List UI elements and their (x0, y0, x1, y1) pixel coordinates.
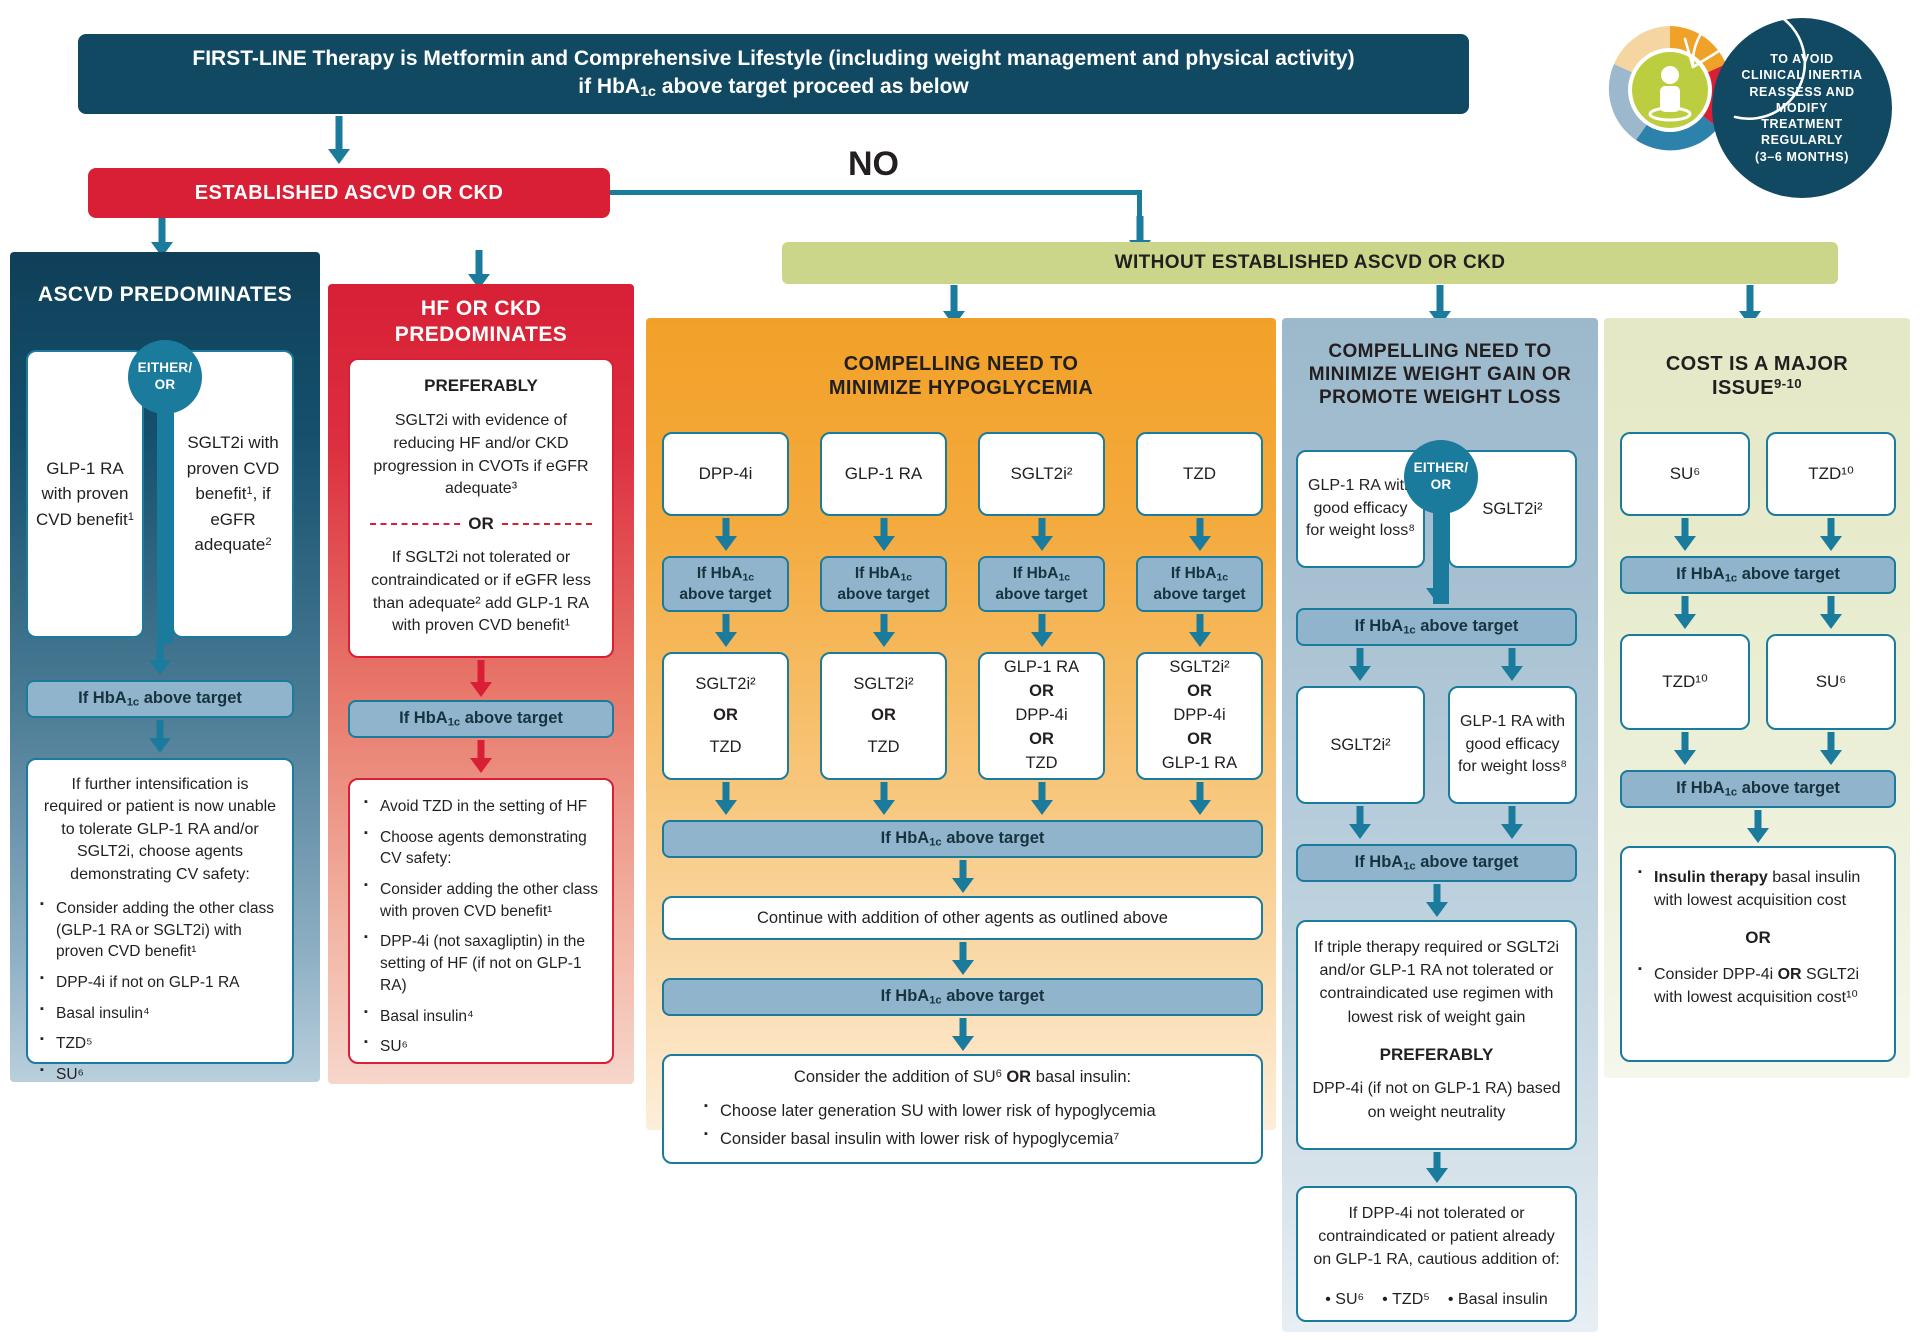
list-item: • TZD⁵ (1382, 1288, 1430, 1311)
list-item: DPP-4i (not saxagliptin) in the setting … (364, 931, 598, 996)
hfckd-column-title: HF OR CKD PREDOMINATES (328, 296, 634, 347)
cost-option-su: SU⁶ (1620, 432, 1750, 516)
hfckd-or-label: OR (468, 512, 494, 536)
weight-preferably-label: PREFERABLY (1380, 1043, 1494, 1068)
either-or-line1: EITHER/ (138, 360, 193, 377)
hypo-opt3-c: TZD (1025, 752, 1057, 776)
arrow-cost-su-down (1673, 518, 1697, 552)
hypo-opt3-b: DPP-4i (1015, 704, 1067, 728)
arrow-hypo-opt1-to-bar (714, 782, 738, 816)
hypo-next-options-2: SGLT2i² OR TZD (820, 652, 947, 780)
weight-either-or-badge: EITHER/ OR (1404, 440, 1478, 514)
weight-triple-text: If triple therapy required or SGLT2i and… (1312, 936, 1561, 1029)
hypo-option-dpp4i: DPP-4i (662, 432, 789, 516)
arrow-hfckd-pref-to-hba1c (469, 660, 493, 698)
list-item: Consider basal insulin with lower risk o… (704, 1128, 1241, 1152)
arrow-cost-su2-to-bar2 (1819, 732, 1843, 766)
hypo-consider-box: Consider the addition of SU6 OR basal in… (662, 1054, 1263, 1164)
cost-bullets-2: Consider DPP-4i OR SGLT2i with lowest ac… (1638, 963, 1878, 1009)
list-item: Insulin therapy basal insulin with lowes… (1638, 866, 1878, 912)
ascvd-hba1c-bar: If HbA1c above target (26, 680, 294, 718)
reassess-line-7: (3–6 MONTHS) (1741, 149, 1862, 165)
hfckd-recommendations-box: Avoid TZD in the setting of HF Choose ag… (348, 778, 614, 1064)
no-label: NO (848, 145, 899, 184)
arrow-hypo-bar1-down (714, 614, 738, 648)
cost-insulin-box: Insulin therapy basal insulin with lowes… (1620, 846, 1896, 1062)
hypo-next-options-3: GLP-1 RA OR DPP-4i OR TZD (978, 652, 1105, 780)
weight-hba1c-bar-2: If HbA1c above target (1296, 844, 1577, 882)
hypo-opt3-or2: OR (1029, 728, 1054, 752)
hfckd-title-line1: HF OR CKD (328, 296, 634, 322)
arrow-cost-tzd-down (1819, 518, 1843, 552)
list-item: • SU⁶ (1325, 1288, 1364, 1311)
hypo-opt1-or: OR (713, 700, 738, 731)
hypo-hba1c-bar-1: If HbA1cabove target (662, 556, 789, 612)
weight-preferably-text: DPP-4i (if not on GLP-1 RA) based on wei… (1312, 1077, 1561, 1123)
list-item: Consider adding the other class (GLP-1 R… (40, 898, 280, 963)
arrow-hypo-dpp4i-down (714, 518, 738, 552)
hypo-option-glp1ra: GLP-1 RA (820, 432, 947, 516)
arrow-hypo-bar3-down (1030, 614, 1054, 648)
hypo-option-tzd: TZD (1136, 432, 1263, 516)
arrow-hypo-sglt2i-down (1030, 518, 1054, 552)
arrow-hypo-opt3-to-bar (1030, 782, 1054, 816)
list-item: Basal insulin⁴ (364, 1006, 598, 1028)
list-item: Basal insulin⁴ (40, 1003, 280, 1025)
ascvd-intensification-box: If further intensification is required o… (26, 758, 294, 1064)
hypo-opt2-b: TZD (867, 732, 899, 763)
hfckd-hba1c-bar: If HbA1c above target (348, 700, 614, 738)
arrow-hypo-bar4-down (1188, 614, 1212, 648)
list-item: SU⁶ (364, 1036, 598, 1058)
reassess-regularly-badge: TO AVOID CLINICAL INERTIA REASSESS AND M… (1712, 18, 1892, 198)
hypo-opt4-or1: OR (1187, 680, 1212, 704)
hfckd-preferably-box: PREFERABLY SGLT2i with evidence of reduc… (348, 358, 614, 658)
hypo-opt4-b: DPP-4i (1173, 704, 1225, 728)
hypo-opt4-a: SGLT2i² (1169, 656, 1229, 680)
arrow-ascvd-hba1c-to-intensify (148, 720, 172, 754)
arrow-weight-bar2-to-triple (1425, 884, 1449, 918)
weight-hba1c-bar-1: If HbA1c above target (1296, 608, 1577, 646)
hypoglycemia-column-title: COMPELLING NEED TO MINIMIZE HYPOGLYCEMIA (646, 352, 1276, 401)
hfckd-preferably-label: PREFERABLY (424, 374, 538, 398)
arrow-cost-tzd2-to-bar2 (1673, 732, 1697, 766)
weight-title-line3: PROMOTE WEIGHT LOSS (1282, 386, 1598, 409)
arrow-cost-bar1-to-tzd (1673, 596, 1697, 630)
hypo-hba1c-bar-3: If HbA1cabove target (978, 556, 1105, 612)
weight-cautious-text: If DPP-4i not tolerated or contraindicat… (1312, 1202, 1561, 1272)
arrow-hypo-widebar1-to-continue (951, 860, 975, 894)
arrow-hfckd-hba1c-to-bullets (469, 740, 493, 774)
arrow-cost-bar2-to-insulin (1746, 810, 1770, 844)
weight-cautious-items: • SU⁶ • TZD⁵ • Basal insulin (1325, 1288, 1548, 1311)
arrow-weight-triple-to-cautious (1425, 1152, 1449, 1184)
ascvd-intensify-text: If further intensification is required o… (40, 774, 280, 886)
either-or-line1: EITHER/ (1414, 460, 1469, 477)
arrow-hypo-continue-to-widebar2 (951, 942, 975, 976)
weight-second-glp1ra: GLP-1 RA with good efficacy for weight l… (1448, 686, 1577, 804)
either-or-line2: OR (1431, 477, 1452, 494)
no-connector-horizontal (610, 190, 1142, 195)
hfckd-title-line2: PREDOMINATES (328, 322, 634, 348)
hypo-next-options-1: SGLT2i² OR TZD (662, 652, 789, 780)
hfckd-alternative-text: If SGLT2i not tolerated or contraindicat… (360, 547, 602, 638)
list-item: • Basal insulin (1448, 1288, 1548, 1311)
cost-title-line1: COST IS A MAJOR (1604, 352, 1910, 376)
ascvd-either-or-stem (157, 374, 173, 644)
hypo-hba1c-bar-wide-2: If HbA1c above target (662, 978, 1263, 1016)
arrow-header-to-established (327, 116, 351, 164)
hypo-hba1c-bar-2: If HbA1cabove target (820, 556, 947, 612)
hypo-hba1c-bar-4: If HbA1cabove target (1136, 556, 1263, 612)
hypo-option-sglt2i: SGLT2i² (978, 432, 1105, 516)
ascvd-option-glp1: GLP-1 RA with proven CVD benefit1 (26, 350, 144, 638)
ascvd-bullets: Consider adding the other class (GLP-1 R… (40, 898, 280, 1095)
list-item: TZD⁵ (40, 1033, 280, 1055)
hypo-opt3-or1: OR (1029, 680, 1054, 704)
list-item: Choose later generation SU with lower ri… (704, 1100, 1241, 1124)
hypo-next-options-4: SGLT2i² OR DPP-4i OR GLP-1 RA (1136, 652, 1263, 780)
arrow-hypo-tzd-down (1188, 518, 1212, 552)
cost-hba1c-bar-2: If HbA1c above target (1620, 770, 1896, 808)
list-item: SU⁶ (40, 1064, 280, 1086)
arrow-weight-bar1-to-glp1ra (1500, 648, 1524, 682)
hypo-opt1-a: SGLT2i² (695, 669, 755, 700)
arrow-hypo-widebar2-to-consider (951, 1018, 975, 1052)
hypo-opt1-b: TZD (709, 732, 741, 763)
weight-column-title: COMPELLING NEED TO MINIMIZE WEIGHT GAIN … (1282, 340, 1598, 410)
cost-or-label: OR (1638, 926, 1878, 951)
hypo-opt4-c: GLP-1 RA (1162, 752, 1237, 776)
cost-column-title: COST IS A MAJOR ISSUE9-10 (1604, 352, 1910, 401)
weight-cautious-box: If DPP-4i not tolerated or contraindicat… (1296, 1186, 1577, 1322)
hypo-continue-box: Continue with addition of other agents a… (662, 896, 1263, 940)
arrow-weight-bar1-to-sglt2i (1348, 648, 1372, 682)
hypo-title-line2: MINIMIZE HYPOGLYCEMIA (646, 376, 1276, 400)
hypo-hba1c-bar-wide-1: If HbA1c above target (662, 820, 1263, 858)
arrow-weight-glp1ra-to-bar2 (1500, 806, 1524, 840)
without-established-header: WITHOUT ESTABLISHED ASCVD OR CKD (782, 242, 1838, 284)
hypo-opt4-or2: OR (1187, 728, 1212, 752)
arrow-hypo-bar2-down (872, 614, 896, 648)
cost-hba1c-bar-1: If HbA1c above target (1620, 556, 1896, 594)
list-item: Consider DPP-4i OR SGLT2i with lowest ac… (1638, 963, 1878, 1009)
cost-second-su: SU⁶ (1766, 634, 1896, 730)
established-ascvd-ckd-header: ESTABLISHED ASCVD OR CKD (88, 168, 610, 218)
weight-title-line1: COMPELLING NEED TO (1282, 340, 1598, 363)
arrow-weight-sglt2i-to-bar2 (1348, 806, 1372, 840)
arrow-hypo-opt4-to-bar (1188, 782, 1212, 816)
weight-second-sglt2i: SGLT2i² (1296, 686, 1425, 804)
cost-option-tzd: TZD¹⁰ (1766, 432, 1896, 516)
hypo-opt2-or: OR (871, 700, 896, 731)
first-line-title-line2: if HbA1c above target proceed as below (192, 73, 1354, 102)
list-item: DPP-4i if not on GLP-1 RA (40, 972, 280, 994)
arrow-ascvd-options-to-hba1c (148, 640, 172, 676)
hypo-title-line1: COMPELLING NEED TO (646, 352, 1276, 376)
cost-second-tzd: TZD¹⁰ (1620, 634, 1750, 730)
list-item: Choose agents demonstrating CV safety: (364, 827, 598, 870)
hfckd-preferred-text: SGLT2i with evidence of reducing HF and/… (360, 410, 602, 501)
cost-title-line2: ISSUE9-10 (1604, 376, 1910, 400)
list-item: Avoid TZD in the setting of HF (364, 796, 598, 818)
either-or-line2: OR (155, 377, 176, 394)
weight-triple-therapy-box: If triple therapy required or SGLT2i and… (1296, 920, 1577, 1150)
arrow-cost-bar1-to-su (1819, 596, 1843, 630)
hypo-opt2-a: SGLT2i² (853, 669, 913, 700)
ascvd-either-or-badge: EITHER/ OR (128, 340, 202, 414)
arrow-hypo-opt2-to-bar (872, 782, 896, 816)
hypo-opt3-a: GLP-1 RA (1004, 656, 1079, 680)
cost-bullets: Insulin therapy basal insulin with lowes… (1638, 866, 1878, 912)
weight-title-line2: MINIMIZE WEIGHT GAIN OR (1282, 363, 1598, 386)
hfckd-bullets: Avoid TZD in the setting of HF Choose ag… (364, 796, 598, 1067)
first-line-title-line1: FIRST-LINE Therapy is Metformin and Comp… (192, 45, 1354, 73)
hypo-consider-bullets: Choose later generation SU with lower ri… (684, 1100, 1241, 1153)
first-line-therapy-header: FIRST-LINE Therapy is Metformin and Comp… (78, 34, 1469, 114)
hypo-consider-heading: Consider the addition of SU6 OR basal in… (684, 1066, 1241, 1090)
arrow-hypo-glp1ra-down (872, 518, 896, 552)
list-item: Consider adding the other class with pro… (364, 879, 598, 922)
ascvd-column-title: ASCVD PREDOMINATES (10, 282, 320, 308)
